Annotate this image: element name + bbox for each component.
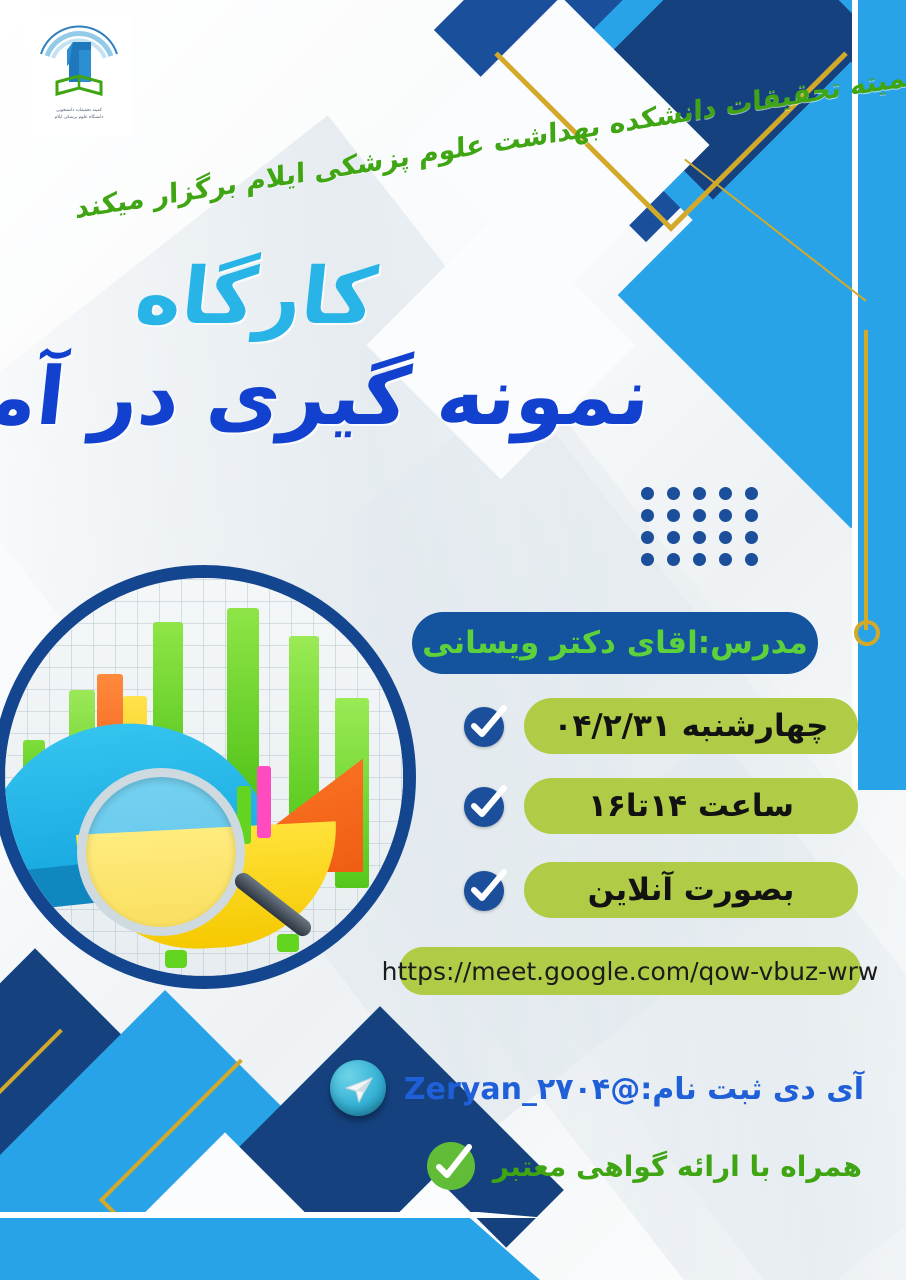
detail-row-mode: بصورت آنلاین	[462, 862, 858, 918]
detail-row-date: چهارشنبه ۰۴/۲/۳۱	[462, 698, 858, 754]
gold-loop-shape	[854, 620, 880, 646]
meeting-link-pill[interactable]: https://meet.google.com/qow-vbuz-wrw	[399, 947, 861, 995]
magnifier-lens	[77, 768, 245, 936]
registration-label: آی دی ثبت نام:@	[610, 1072, 864, 1107]
page-title-primary: کارگاه	[41, 252, 470, 342]
telegram-icon[interactable]	[328, 1058, 390, 1120]
dot-grid-decoration	[628, 487, 758, 575]
certificate-row: همراه با ارائه گواهی معتبر	[425, 1140, 862, 1192]
university-logo-icon	[33, 20, 125, 106]
check-circle-green-icon	[425, 1140, 477, 1192]
detail-row-time: ساعت ۱۴تا۱۶	[462, 778, 858, 834]
check-circle-blue-icon	[462, 703, 508, 749]
registration-handle: Zeryan_	[404, 1072, 537, 1107]
detail-text-time: ساعت ۱۴تا۱۶	[588, 788, 794, 824]
gold-vertical-line	[864, 330, 868, 630]
bottom-white-stripe	[0, 1212, 548, 1218]
detail-pill-mode: بصورت آنلاین	[524, 862, 858, 918]
check-circle-blue-icon	[462, 867, 508, 913]
detail-pill-date: چهارشنبه ۰۴/۲/۳۱	[524, 698, 858, 754]
presenter-label: مدرس:اقای دکتر ویسانی	[422, 625, 808, 661]
check-circle-blue-icon	[462, 783, 508, 829]
certificate-text: همراه با ارائه گواهی معتبر	[493, 1150, 862, 1183]
poster-root: کمیته تحقیقات دانشجوییدانشگاه علوم پزشکی…	[0, 0, 906, 1280]
page-title-secondary: نمونه گیری در آمار	[25, 350, 655, 443]
bottom-blue-bar	[0, 1218, 540, 1280]
detail-text-mode: بصورت آنلاین	[588, 872, 795, 908]
organizer-line: کمیته تحقیقات دانشکده بهداشت علوم پزشکی …	[70, 96, 760, 188]
presenter-badge: مدرس:اقای دکتر ویسانی	[412, 612, 818, 674]
detail-text-date: چهارشنبه ۰۴/۲/۳۱	[554, 708, 829, 744]
detail-pill-time: ساعت ۱۴تا۱۶	[524, 778, 858, 834]
meeting-link-text[interactable]: https://meet.google.com/qow-vbuz-wrw	[382, 957, 879, 986]
registration-row[interactable]: آی دی ثبت نام:@Zeryan_۲۷۰۴	[328, 1058, 864, 1120]
statistics-photo	[0, 565, 416, 989]
registration-id-text: آی دی ثبت نام:@Zeryan_۲۷۰۴	[404, 1072, 864, 1107]
registration-digits: ۲۷۰۴	[537, 1072, 610, 1107]
